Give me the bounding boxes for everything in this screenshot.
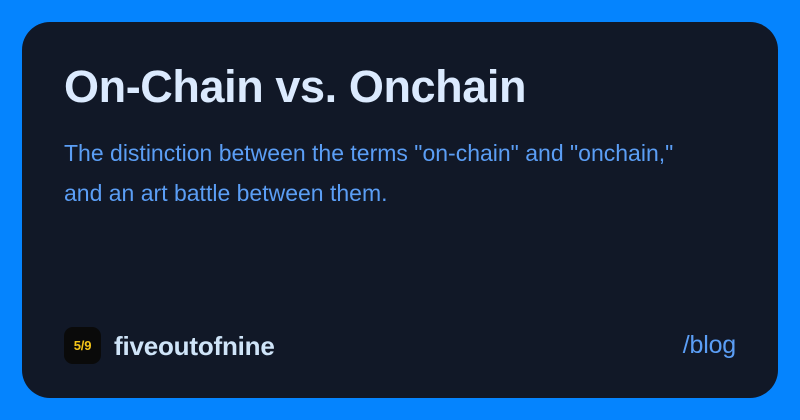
content-card: On-Chain vs. Onchain The distinction bet… [22, 22, 778, 398]
brand-logo-icon: 5/9 [64, 327, 101, 364]
page-title: On-Chain vs. Onchain [64, 62, 736, 112]
layout-spacer [64, 213, 736, 327]
card-footer: 5/9 fiveoutofnine /blog [64, 327, 736, 364]
brand-badge-label: 5/9 [74, 339, 91, 352]
card-header: On-Chain vs. Onchain The distinction bet… [64, 62, 736, 213]
blog-link[interactable]: /blog [683, 333, 736, 358]
page-subtitle: The distinction between the terms "on-ch… [64, 134, 714, 213]
brand-lockup[interactable]: 5/9 fiveoutofnine [64, 327, 275, 364]
brand-name-label: fiveoutofnine [114, 333, 275, 359]
og-image-canvas: On-Chain vs. Onchain The distinction bet… [0, 0, 800, 420]
